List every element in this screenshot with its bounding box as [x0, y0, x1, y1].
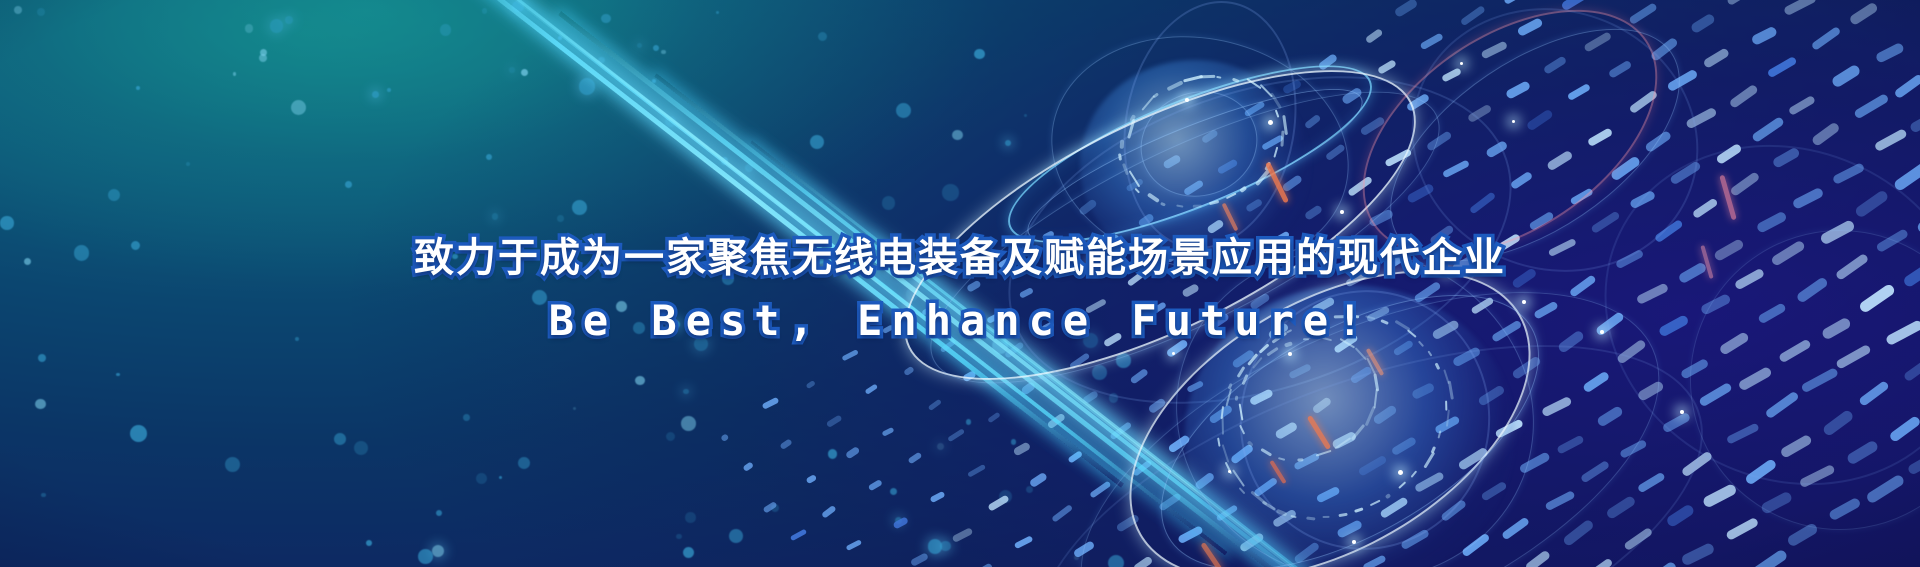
hero-banner: 致力于成为一家聚焦无线电装备及赋能场景应用的现代企业 Be Best, Enha…: [0, 0, 1920, 567]
background-vignette: [0, 0, 1920, 567]
